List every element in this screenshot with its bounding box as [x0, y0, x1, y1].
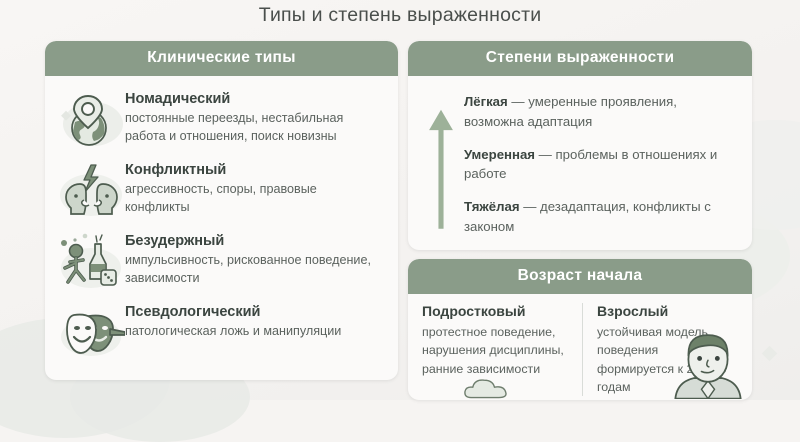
cloud-shape-icon [460, 375, 522, 400]
age-name: Взрослый [597, 303, 732, 319]
type-description: агрессивность, споры, правовые конфликты [125, 181, 377, 217]
severity-dash: — [523, 199, 536, 214]
type-description: патологическая ложь и манипуляции [125, 323, 341, 341]
list-item[interactable]: Тяжёлая — дезадаптация, конфликты с зако… [464, 197, 726, 237]
severity-card: Степени выраженности Лёгкая — умеренные … [408, 41, 752, 250]
man-head-icon [666, 331, 750, 400]
age-of-onset-header: Возраст начала [408, 259, 752, 294]
clinical-types-card: Клинические типы Номадический постоянные… [45, 41, 398, 380]
up-arrow-icon [424, 90, 464, 245]
clinical-types-header: Клинические типы [45, 41, 398, 76]
type-name: Псевдологический [125, 304, 341, 321]
list-item[interactable]: Псевдологический патологическая ложь и м… [55, 301, 386, 363]
severity-list: Лёгкая — умеренные проявления, возможна … [464, 90, 726, 245]
severity-header: Степени выраженности [408, 41, 752, 76]
severity-dash: — [539, 147, 552, 162]
running-person-bottle-dice-icon [55, 230, 125, 292]
list-item[interactable]: Умеренная — проблемы в отношениях и рабо… [464, 145, 726, 185]
type-name: Номадический [125, 91, 377, 108]
type-description: постоянные переезды, нестабильная работа… [125, 110, 377, 146]
list-item[interactable]: Безудержный импульсивность, рискованное … [55, 230, 386, 292]
severity-name: Лёгкая [464, 94, 508, 109]
type-name: Безудержный [125, 233, 377, 250]
theater-masks-long-nose-icon [55, 301, 125, 363]
type-name: Конфликтный [125, 162, 377, 179]
list-item[interactable]: Номадический постоянные переезды, нестаб… [55, 88, 386, 150]
age-of-onset-card: Возраст начала Подростковый протестное п… [408, 259, 752, 400]
severity-name: Тяжёлая [464, 199, 520, 214]
two-heads-arguing-icon [55, 159, 125, 221]
age-description: протестное поведение, нарушения дисципли… [422, 323, 572, 378]
type-description: импульсивность, рискованное поведение, з… [125, 252, 377, 288]
age-name: Подростковый [422, 303, 572, 319]
list-item[interactable]: Лёгкая — умеренные проявления, возможна … [464, 92, 726, 132]
globe-location-pin-icon [55, 88, 125, 150]
list-item[interactable]: Конфликтный агрессивность, споры, правов… [55, 159, 386, 221]
page-title: Типы и степень выраженности [0, 4, 800, 27]
severity-dash: — [511, 94, 524, 109]
severity-name: Умеренная [464, 147, 535, 162]
clinical-types-list: Номадический постоянные переезды, нестаб… [45, 76, 398, 363]
